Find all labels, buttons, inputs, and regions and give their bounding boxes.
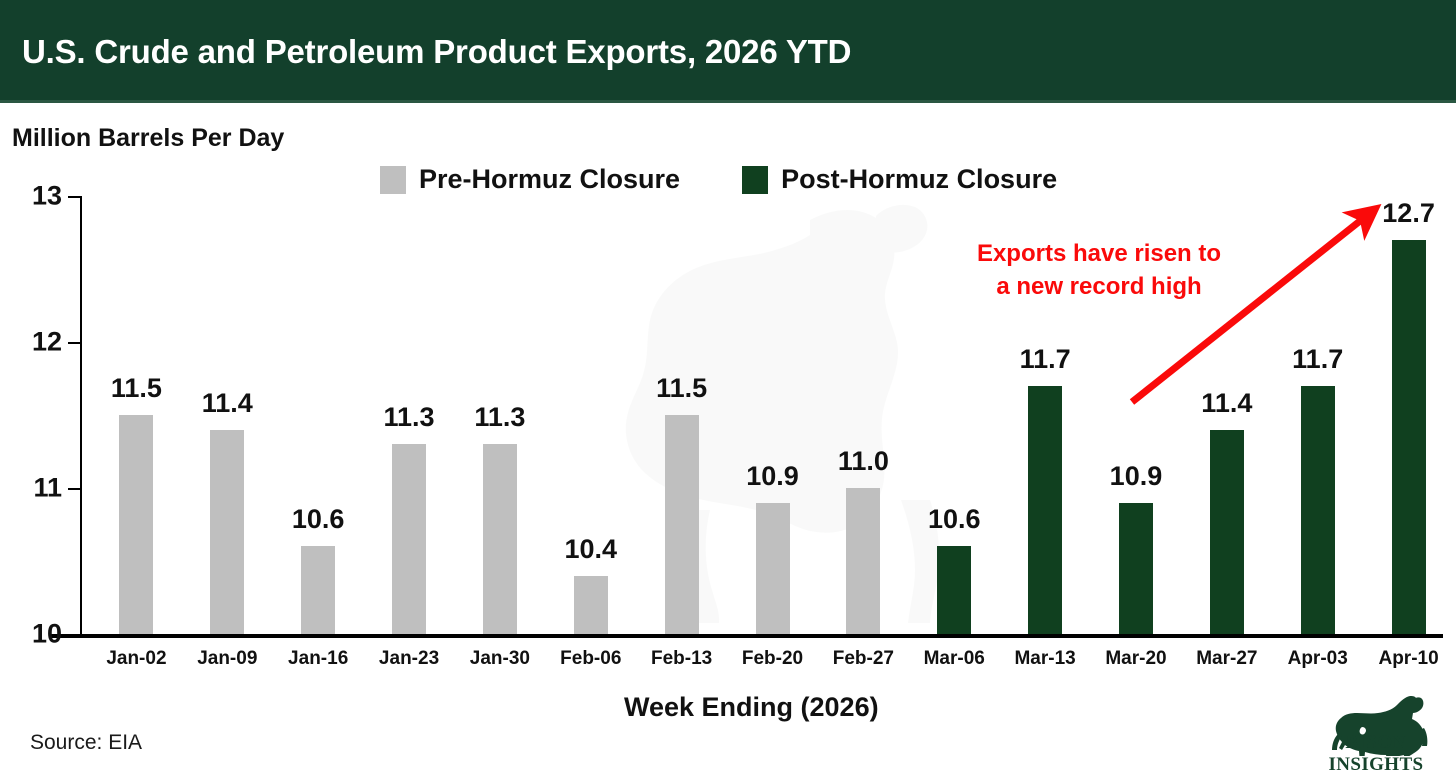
brand-logo: BISON INSIGHTS (1302, 692, 1450, 778)
bar[interactable] (119, 415, 153, 634)
bar-value-label: 11.5 (111, 373, 162, 404)
x-axis-tick-label: Feb-13 (651, 648, 712, 670)
page-title: U.S. Crude and Petroleum Product Exports… (22, 33, 851, 71)
y-axis-tick-label: 10 (32, 619, 62, 650)
bar-value-label: 11.4 (1201, 388, 1252, 419)
bar[interactable] (392, 444, 426, 634)
x-axis-tick-label: Jan-02 (106, 648, 166, 670)
legend-item-post-hormuz: Post-Hormuz Closure (742, 164, 1057, 195)
bar-value-label: 12.7 (1382, 198, 1435, 229)
x-axis-tick-label: Mar-27 (1196, 648, 1257, 670)
bar[interactable] (483, 444, 517, 634)
bar-value-label: 11.3 (384, 402, 435, 433)
bar[interactable] (937, 546, 971, 634)
bar-value-label: 10.9 (1110, 461, 1163, 492)
bar-value-label: 11.7 (1020, 344, 1071, 375)
x-axis-tick-label: Jan-23 (379, 648, 439, 670)
y-axis-tick (68, 488, 82, 490)
bar-value-label: 11.4 (202, 388, 253, 419)
y-axis-tick-label: 11 (33, 473, 62, 504)
y-axis-tick-label: 13 (32, 181, 62, 212)
bar-value-label: 10.4 (564, 534, 617, 565)
bar[interactable] (1028, 386, 1062, 634)
annotation-line-1: Exports have risen to (944, 238, 1254, 271)
bar[interactable] (665, 415, 699, 634)
bar[interactable] (756, 503, 790, 634)
chart-subtitle: Million Barrels Per Day (12, 124, 284, 153)
bar[interactable] (1301, 386, 1335, 634)
bar[interactable] (846, 488, 880, 634)
x-axis-tick-label: Mar-13 (1014, 648, 1075, 670)
x-axis-tick-label: Feb-06 (560, 648, 621, 670)
x-axis-tick-label: Apr-03 (1288, 648, 1348, 670)
x-axis-tick-label: Mar-20 (1105, 648, 1166, 670)
x-axis-tick-label: Jan-09 (197, 648, 257, 670)
annotation-line-2: a new record high (944, 271, 1254, 304)
bar-value-label: 11.0 (838, 446, 889, 477)
header-divider (0, 100, 1456, 103)
x-axis-tick-label: Mar-06 (924, 648, 985, 670)
chart-page: U.S. Crude and Petroleum Product Exports… (0, 0, 1456, 782)
x-axis-title: Week Ending (2026) (624, 692, 879, 723)
bar-value-label: 11.5 (656, 373, 707, 404)
x-axis-tick-label: Jan-30 (470, 648, 530, 670)
bar[interactable] (301, 546, 335, 634)
bar[interactable] (210, 430, 244, 634)
legend-label-pre-hormuz: Pre-Hormuz Closure (419, 164, 680, 195)
legend-item-pre-hormuz: Pre-Hormuz Closure (380, 164, 680, 195)
legend-label-post-hormuz: Post-Hormuz Closure (781, 164, 1057, 195)
legend-swatch-pre-hormuz (380, 166, 406, 194)
x-axis-line (50, 634, 1443, 638)
chart-legend: Pre-Hormuz Closure Post-Hormuz Closure (380, 164, 1057, 195)
bar[interactable] (1210, 430, 1244, 634)
brand-logo-text: BISON INSIGHTS (1302, 732, 1450, 776)
x-axis-tick-label: Apr-10 (1378, 648, 1438, 670)
bar[interactable] (1392, 240, 1426, 634)
y-axis-tick (68, 342, 82, 344)
source-note: Source: EIA (30, 731, 142, 755)
bar-value-label: 10.6 (292, 504, 345, 535)
annotation-callout: Exports have risen to a new record high (944, 238, 1254, 303)
x-axis-tick-label: Feb-27 (833, 648, 894, 670)
y-axis-tick (68, 634, 82, 636)
legend-swatch-post-hormuz (742, 166, 768, 194)
bar[interactable] (574, 576, 608, 634)
bar-value-label: 10.9 (746, 461, 799, 492)
x-axis-tick-label: Feb-20 (742, 648, 803, 670)
y-axis-tick (68, 196, 82, 198)
bar-value-label: 11.3 (474, 402, 525, 433)
bar[interactable] (1119, 503, 1153, 634)
x-axis-tick-label: Jan-16 (288, 648, 348, 670)
bar-value-label: 11.7 (1292, 344, 1343, 375)
y-axis-line (80, 196, 82, 636)
bar-value-label: 10.6 (928, 504, 981, 535)
y-axis-tick-label: 12 (32, 327, 62, 358)
